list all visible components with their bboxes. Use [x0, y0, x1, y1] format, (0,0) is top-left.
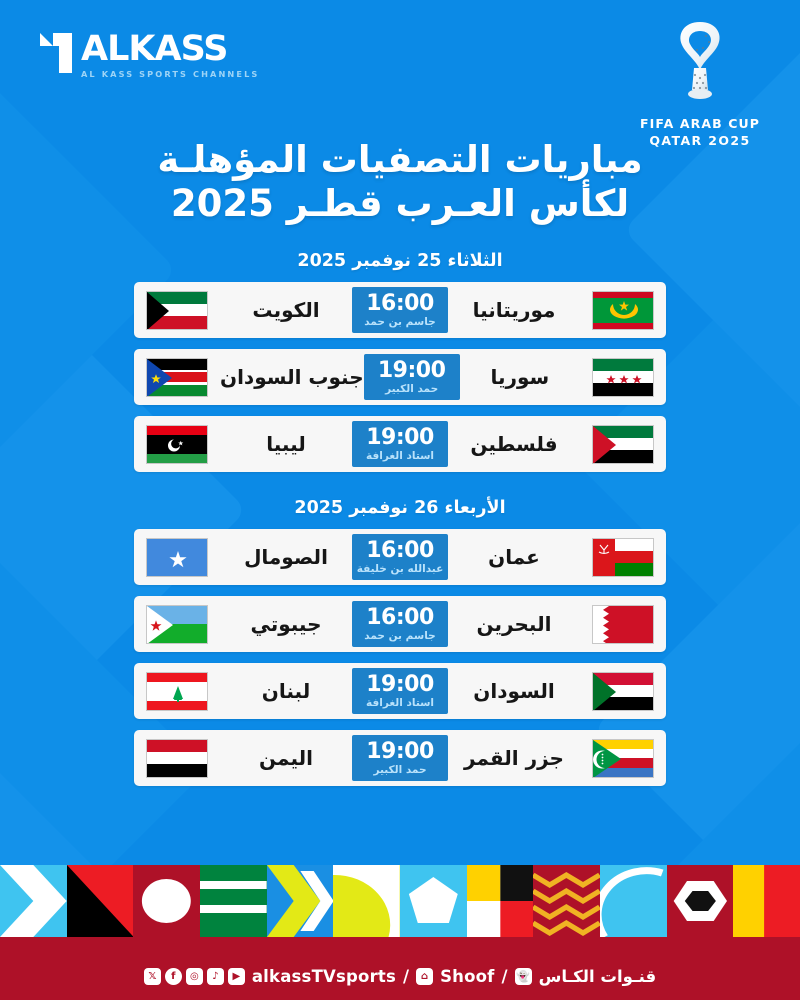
away-team-name: الصومال: [220, 545, 352, 569]
mauritania-flag: [592, 291, 654, 330]
home-flag-cell: [580, 425, 666, 464]
brand-tagline: AL KASS SPORTS CHANNELS: [81, 69, 259, 79]
sudan-flag: [592, 672, 654, 711]
kickoff-time: 19:00: [366, 674, 434, 696]
page-title: مباريات التصفيات المؤهلـة لكأس العـرب قط…: [80, 138, 720, 225]
home-team-name: سوريا: [460, 365, 580, 389]
away-team-name: اليمن: [220, 746, 352, 770]
match-row[interactable]: موريتانيا 16:00 جاسم بن حمد الكويت: [134, 282, 666, 338]
lebanon-flag: [146, 672, 208, 711]
match-row[interactable]: فلسطين 19:00 استاد الغرافة ليبيا: [134, 416, 666, 472]
pattern-tile-hexagon: [667, 865, 734, 937]
bahrain-flag: [592, 605, 654, 644]
decorative-pattern-band: [0, 865, 800, 937]
facebook-icon[interactable]: f: [165, 968, 182, 985]
kickoff-time: 19:00: [378, 360, 446, 382]
venue-name: حمد الكبير: [385, 384, 438, 395]
pattern-tile-quarter-arc: [333, 865, 400, 937]
pattern-tile-chevrons: [267, 865, 334, 937]
kickoff-time: 19:00: [366, 427, 434, 449]
match-time-chip: 19:00 حمد الكبير: [352, 735, 448, 781]
match-time-chip: 19:00 استاد الغرافة: [352, 668, 448, 714]
title-line-1: مباريات التصفيات المؤهلـة: [80, 138, 720, 182]
home-team-name: البحرين: [448, 612, 580, 636]
djibouti-flag: [146, 605, 208, 644]
match-row[interactable]: سوريا 19:00 حمد الكبير جنوب السودان: [134, 349, 666, 405]
away-flag-cell: [134, 605, 220, 644]
match-time-chip: 19:00 حمد الكبير: [364, 354, 460, 400]
away-flag-cell: [134, 538, 220, 577]
away-team-name: ليبيا: [220, 432, 352, 456]
schedule-section-1: الثلاثاء 25 نوفمبر 2025 موريتانيا: [0, 251, 800, 472]
venue-name: حمد الكبير: [373, 765, 426, 776]
south-sudan-flag: [146, 358, 208, 397]
libya-flag: [146, 425, 208, 464]
home-team-name: عمان: [448, 545, 580, 569]
shoof-label[interactable]: Shoof: [440, 967, 494, 986]
home-flag-cell: [580, 291, 666, 330]
arabic-handle[interactable]: قنـوات الكـاس: [539, 967, 657, 986]
venue-name: عبدالله بن خليفة: [357, 564, 444, 575]
kickoff-time: 16:00: [366, 293, 434, 315]
pattern-tile-halves: [733, 865, 800, 937]
schedule: الثلاثاء 25 نوفمبر 2025 موريتانيا: [0, 251, 800, 786]
match-time-chip: 19:00 استاد الغرافة: [352, 421, 448, 467]
somalia-flag: [146, 538, 208, 577]
venue-name: جاسم بن حمد: [364, 631, 435, 642]
away-team-name: جنوب السودان: [220, 365, 364, 389]
home-flag-cell: [580, 739, 666, 778]
yemen-flag: [146, 739, 208, 778]
alkass-logo[interactable]: ALKASS AL KASS SPORTS CHANNELS: [40, 33, 259, 79]
home-team-name: السودان: [448, 679, 580, 703]
fifa-arab-cup-trophy-icon: [664, 18, 736, 114]
venue-name: استاد الغرافة: [366, 698, 434, 709]
header: ALKASS AL KASS SPORTS CHANNELS: [0, 0, 800, 130]
home-team-name: جزر القمر: [448, 746, 580, 770]
match-row[interactable]: البحرين 16:00 جاسم بن حمد جيبوتي: [134, 596, 666, 652]
alkass-flag-mark-icon: [40, 33, 72, 73]
kickoff-time: 16:00: [366, 607, 434, 629]
pattern-tile-circle: [133, 865, 200, 937]
away-flag-cell: [134, 358, 220, 397]
venue-name: استاد الغرافة: [366, 451, 434, 462]
home-flag-cell: [580, 605, 666, 644]
brand-wordmark: ALKASS: [81, 33, 259, 66]
away-flag-cell: [134, 425, 220, 464]
away-flag-cell: [134, 291, 220, 330]
palestine-flag: [592, 425, 654, 464]
separator-2: /: [502, 967, 508, 986]
away-team-name: جيبوتي: [220, 612, 352, 636]
shoof-app-icon[interactable]: ⌂: [416, 968, 433, 985]
kickoff-time: 16:00: [366, 540, 434, 562]
syria-flag: [592, 358, 654, 397]
pattern-tile-quadrants: [467, 865, 534, 937]
match-time-chip: 16:00 جاسم بن حمد: [352, 287, 448, 333]
match-row[interactable]: السودان 19:00 استاد الغرافة لبنان: [134, 663, 666, 719]
home-flag-cell: [580, 538, 666, 577]
match-time-chip: 16:00 جاسم بن حمد: [352, 601, 448, 647]
match-time-chip: 16:00 عبدالله بن خليفة: [352, 534, 448, 580]
away-flag-cell: [134, 672, 220, 711]
away-flag-cell: [134, 739, 220, 778]
handle-alkasstvsports[interactable]: alkassTVsports: [252, 967, 396, 986]
schedule-section-2: الأربعاء 26 نوفمبر 2025: [0, 498, 800, 786]
pattern-tile-zigzag: [533, 865, 600, 937]
home-team-name: موريتانيا: [448, 298, 580, 322]
separator-1: /: [403, 967, 409, 986]
title-line-2: لكأس العـرب قطـر 2025: [80, 182, 720, 226]
footer-social-row: 𝕏 f ◎ ♪ ▶ alkassTVsports / ⌂ Shoof / 👻 ق…: [0, 967, 800, 986]
match-row[interactable]: عمان 16:00 عبدالله بن خليفة الصومال: [134, 529, 666, 585]
kickoff-time: 19:00: [366, 741, 434, 763]
date-header-1: الثلاثاء 25 نوفمبر 2025: [0, 251, 800, 271]
away-team-name: لبنان: [220, 679, 352, 703]
comoros-flag: [592, 739, 654, 778]
youtube-icon[interactable]: ▶: [228, 968, 245, 985]
pattern-tile-pentagon: [400, 865, 467, 937]
x-icon[interactable]: 𝕏: [144, 968, 161, 985]
tiktok-icon[interactable]: ♪: [207, 968, 224, 985]
fifa-logo-line1: FIFA ARAB CUP: [638, 116, 762, 131]
home-flag-cell: [580, 672, 666, 711]
social-icons[interactable]: 𝕏 f ◎ ♪ ▶: [144, 968, 245, 985]
date-header-2: الأربعاء 26 نوفمبر 2025: [0, 498, 800, 518]
instagram-icon[interactable]: ◎: [186, 968, 203, 985]
snapchat-icon[interactable]: 👻: [515, 968, 532, 985]
pattern-tile-stripes: [200, 865, 267, 937]
away-team-name: الكويت: [220, 298, 352, 322]
home-flag-cell: [580, 358, 666, 397]
oman-flag: [592, 538, 654, 577]
pattern-tile-diagonal: [67, 865, 134, 937]
pattern-tile-arrow: [0, 865, 67, 937]
pattern-tile-arc: [600, 865, 667, 937]
fifa-arab-cup-logo: FIFA ARAB CUP QATAR 2O25: [638, 18, 762, 148]
home-team-name: فلسطين: [448, 432, 580, 456]
poster-root: ALKASS AL KASS SPORTS CHANNELS: [0, 0, 800, 1000]
match-row[interactable]: جزر القمر 19:00 حمد الكبير اليمن: [134, 730, 666, 786]
venue-name: جاسم بن حمد: [364, 317, 435, 328]
kuwait-flag: [146, 291, 208, 330]
